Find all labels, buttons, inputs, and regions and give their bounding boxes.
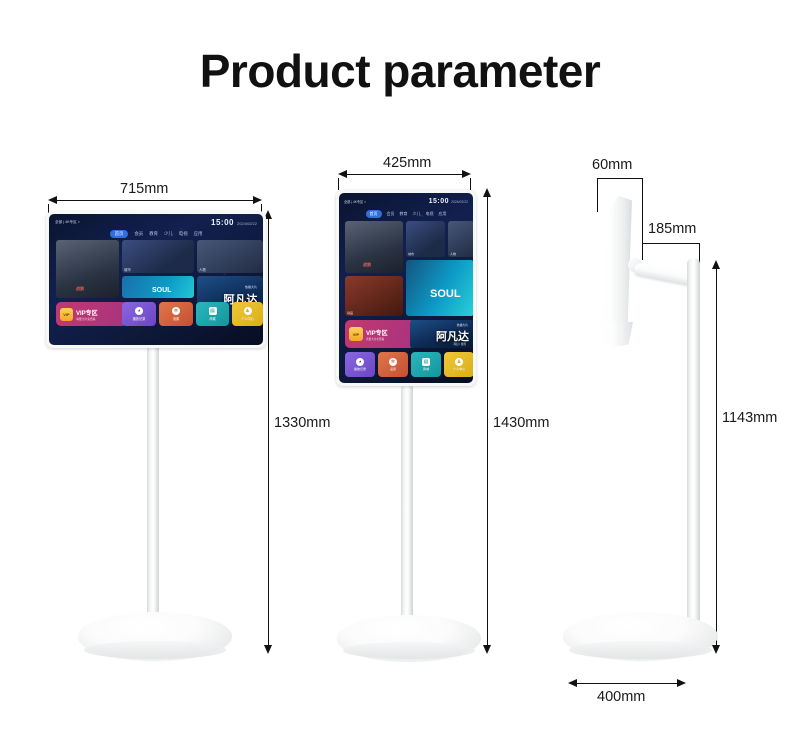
dim-base-width-arrow-left	[568, 679, 577, 687]
screen-tab-tv[interactable]: 电视	[179, 231, 188, 237]
poster-label: 城市	[408, 252, 414, 256]
portrait-base-rim	[343, 642, 475, 659]
screen-tab-edu[interactable]: 教育	[149, 231, 158, 237]
screen-tab-edu[interactable]: 教育	[400, 211, 408, 217]
dim-width-portrait-arrow-left	[338, 170, 347, 178]
feature-poster[interactable]: 热播大片 阿凡达 科幻 / 冒险	[410, 320, 473, 348]
landscape-base-rim	[84, 641, 226, 659]
person-icon: ♟	[244, 307, 252, 315]
app-tile-settings[interactable]: ✲ 设置	[159, 302, 193, 326]
feature-tag: 热播大片	[245, 285, 257, 289]
gear-icon: ✲	[389, 358, 397, 366]
dim-width-landscape-arrow-right	[253, 196, 262, 204]
poster-label: 城市	[124, 267, 131, 272]
dim-depth-panel-label: 60mm	[592, 157, 632, 173]
portrait-screen[interactable]: 全部 | 4K专区 > 15:00 2024/02/22 首页 会员 教育 少儿…	[339, 193, 473, 383]
side-pole	[687, 258, 700, 630]
side-base-rim	[569, 641, 712, 659]
app-tile-history[interactable]: ◕ 播放记录	[122, 302, 156, 326]
screen-tab-kids[interactable]: 少儿	[164, 231, 173, 237]
app-label: 商城	[209, 316, 215, 321]
dim-height-portrait-arrow-up	[483, 188, 491, 197]
dim-height-side-arrow-up	[712, 260, 720, 269]
vip-badge: VIP	[349, 327, 363, 341]
poster-label: 动画	[347, 311, 353, 315]
dim-width-portrait-tick-right	[470, 178, 471, 190]
dim-base-width-label: 400mm	[597, 689, 645, 705]
screen-tab-home[interactable]: 首页	[366, 210, 382, 218]
poster-tile[interactable]: 战狼	[56, 240, 119, 298]
screen-tab-member[interactable]: 会员	[134, 231, 143, 237]
dim-depth-panel-line	[597, 178, 643, 179]
app-label: 设置	[390, 367, 396, 371]
dim-width-portrait-line	[347, 174, 462, 175]
screen-clock: 15:00	[429, 198, 449, 205]
dim-width-landscape-arrow-left	[48, 196, 57, 204]
dim-width-landscape-line	[57, 200, 253, 201]
app-tile-profile[interactable]: ♟ 个人中心	[232, 302, 263, 326]
vip-card[interactable]: VIP VIP专区 海量大片免费看	[345, 320, 415, 348]
dim-depth-arm-line	[642, 243, 700, 244]
feature-tag: 热播大片	[457, 323, 468, 327]
product-parameter-diagram: Product parameter 715mm 1330mm 全部 | 4K专区…	[0, 0, 800, 736]
app-label: 播放记录	[354, 367, 366, 371]
screen-tab-kids[interactable]: 少儿	[413, 211, 421, 217]
app-tile-store[interactable]: ▤ 商城	[196, 302, 229, 326]
app-label: 商城	[423, 367, 429, 371]
screen-topbar: 全部 | 4K专区 > 15:00 2024/02/22	[339, 198, 473, 205]
portrait-pole	[401, 383, 413, 633]
screen-tab-member[interactable]: 会员	[387, 211, 395, 217]
poster-label: 人物	[450, 252, 456, 256]
portrait-screen-bezel: 全部 | 4K专区 > 15:00 2024/02/22 首页 会员 教育 少儿…	[336, 190, 476, 386]
poster-tile[interactable]: 城市	[122, 240, 194, 273]
screen-tab-apps[interactable]: 应用	[439, 211, 447, 217]
dim-base-width-line	[577, 683, 677, 684]
poster-tile[interactable]: 战狼	[345, 221, 403, 273]
poster-label: 人物	[199, 267, 206, 272]
dim-height-portrait-arrow-down	[483, 645, 491, 654]
poster-tile[interactable]: 人物	[448, 221, 473, 257]
poster-tile[interactable]: 城市	[406, 221, 445, 257]
dim-depth-arm-label: 185mm	[648, 221, 696, 237]
feature-subtitle: 科幻 / 冒险	[453, 342, 466, 346]
screen-topbar: 全部 | 4K专区 > 15:00 2024/02/22	[49, 218, 263, 227]
dim-depth-panel-tick-right	[642, 178, 643, 260]
app-label: 设置	[173, 316, 179, 321]
dim-height-portrait-label: 1430mm	[493, 415, 549, 431]
landscape-pole	[147, 340, 159, 630]
dim-width-portrait-tick-left	[338, 178, 339, 190]
poster-tile[interactable]: SOUL	[406, 260, 473, 316]
vip-subtitle: 海量大片免费看	[76, 317, 98, 321]
clock-icon: ◕	[135, 307, 143, 315]
poster-label: SOUL	[430, 288, 461, 300]
poster-tile[interactable]: 人物	[197, 240, 263, 273]
screen-tab-apps[interactable]: 应用	[194, 231, 203, 237]
dim-height-side-line	[716, 266, 717, 648]
dim-height-portrait-line	[487, 194, 488, 648]
screen-status-left: 全部 | 4K专区 >	[344, 199, 366, 204]
store-icon: ▤	[209, 307, 217, 315]
screen-date: 2024/02/22	[237, 221, 257, 226]
screen-status-left: 全部 | 4K专区 >	[55, 220, 80, 225]
screen-nav-tabs[interactable]: 首页 会员 教育 少儿 电视 应用	[339, 210, 473, 218]
screen-clock: 15:00	[211, 218, 234, 227]
vip-title: VIP专区	[76, 308, 98, 317]
app-label: 个人中心	[241, 316, 254, 321]
dim-base-width-arrow-right	[677, 679, 686, 687]
person-icon: ♟	[455, 358, 463, 366]
screen-nav-tabs[interactable]: 首页 会员 教育 少儿 电视 应用	[49, 230, 263, 238]
dim-height-side-arrow-down	[712, 645, 720, 654]
poster-label: 战狼	[76, 286, 84, 292]
page-title: Product parameter	[0, 44, 800, 98]
poster-tile[interactable]: 动画	[345, 276, 403, 316]
dim-height-landscape-line	[268, 216, 269, 648]
vip-subtitle: 海量大片免费看	[366, 337, 388, 341]
vip-card[interactable]: VIP VIP专区 海量大片免费看	[56, 302, 127, 326]
app-label: 个人中心	[453, 367, 465, 371]
dim-width-portrait-arrow-right	[462, 170, 471, 178]
dim-height-side-label: 1143mm	[722, 410, 777, 426]
app-tile-history[interactable]: ◕ 播放记录	[345, 352, 375, 377]
dim-width-portrait-label: 425mm	[383, 155, 431, 171]
app-label: 播放记录	[133, 316, 146, 321]
screen-date: 2024/02/22	[451, 200, 468, 204]
landscape-screen-bezel: 全部 | 4K专区 > 15:00 2024/02/22 首页 会员 教育 少儿…	[46, 211, 266, 348]
vip-badge: VIP	[60, 308, 73, 321]
app-tile-store[interactable]: ▤ 商城	[411, 352, 441, 377]
dim-height-landscape-arrow-down	[264, 645, 272, 654]
dim-height-landscape-label: 1330mm	[274, 415, 330, 431]
clock-icon: ◕	[356, 358, 364, 366]
store-icon: ▤	[422, 358, 430, 366]
landscape-screen[interactable]: 全部 | 4K专区 > 15:00 2024/02/22 首页 会员 教育 少儿…	[49, 214, 263, 345]
screen-tab-tv[interactable]: 电视	[426, 211, 434, 217]
app-tile-settings[interactable]: ✲ 设置	[378, 352, 408, 377]
poster-label: 战狼	[363, 262, 371, 268]
dim-width-landscape-label: 715mm	[120, 181, 168, 197]
gear-icon: ✲	[172, 307, 180, 315]
poster-tile[interactable]: SOUL	[122, 276, 194, 298]
app-tile-profile[interactable]: ♟ 个人中心	[444, 352, 473, 377]
screen-tab-home[interactable]: 首页	[110, 230, 129, 238]
poster-label: SOUL	[152, 287, 171, 294]
dim-depth-panel-tick-left	[597, 178, 598, 212]
vip-title: VIP专区	[366, 328, 388, 337]
